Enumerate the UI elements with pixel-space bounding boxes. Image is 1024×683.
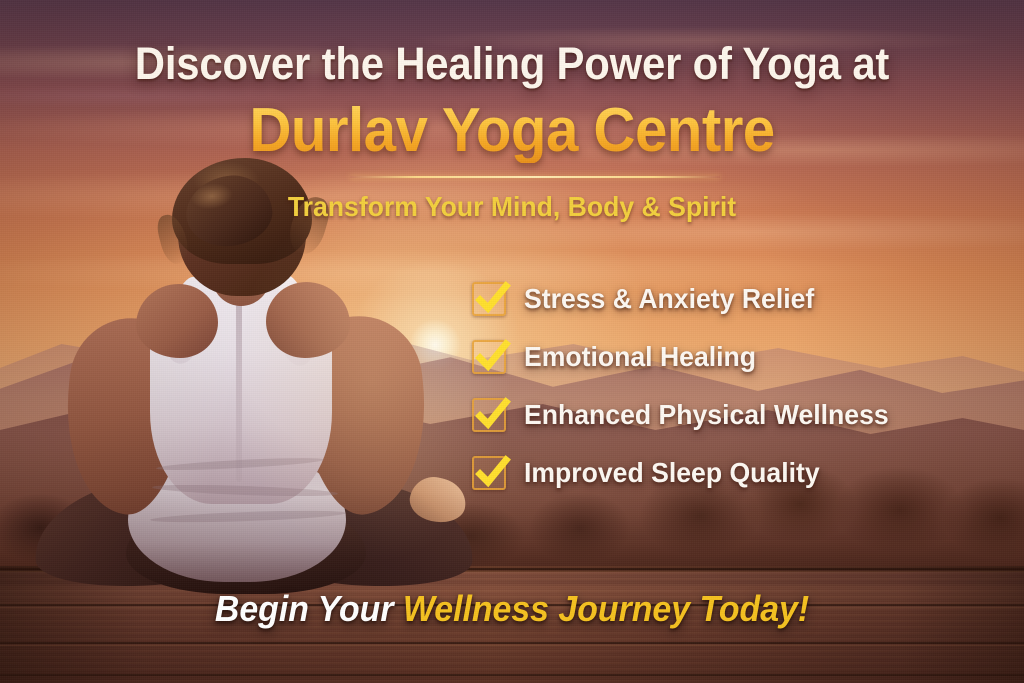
call-to-action: Begin Your Wellness Journey Today! [31,588,994,630]
subtitle-tagline: Transform Your Mind, Body & Spirit [26,190,999,224]
benefit-item: Emotional Healing [472,328,942,386]
checkmark-icon [475,283,509,317]
benefit-label: Improved Sleep Quality [524,457,820,489]
benefit-item: Improved Sleep Quality [472,444,942,502]
checkmark-icon [475,341,509,375]
checkbox-checked[interactable] [472,456,506,490]
checkbox-checked[interactable] [472,398,506,432]
checkmark-icon [475,399,509,433]
benefit-label: Stress & Anxiety Relief [524,283,814,315]
yoga-promo-poster: Discover the Healing Power of Yoga at Du… [0,0,1024,683]
title-divider [350,176,720,178]
checkbox-checked[interactable] [472,282,506,316]
benefit-label: Enhanced Physical Wellness [524,399,889,431]
checkmark-icon [475,457,509,491]
poster-text-content: Discover the Healing Power of Yoga at Du… [0,0,1024,683]
brand-name: Durlav Yoga Centre [31,98,994,163]
checkbox-checked[interactable] [472,340,506,374]
benefits-checklist: Stress & Anxiety Relief Emotional Healin… [472,270,942,502]
benefit-item: Enhanced Physical Wellness [472,386,942,444]
cta-highlight-text: Wellness Journey Today! [403,588,809,629]
benefit-item: Stress & Anxiety Relief [472,270,942,328]
benefit-label: Emotional Healing [524,341,756,373]
cta-lead-text: Begin Your [215,588,403,629]
page-title: Discover the Healing Power of Yoga at [36,40,988,89]
